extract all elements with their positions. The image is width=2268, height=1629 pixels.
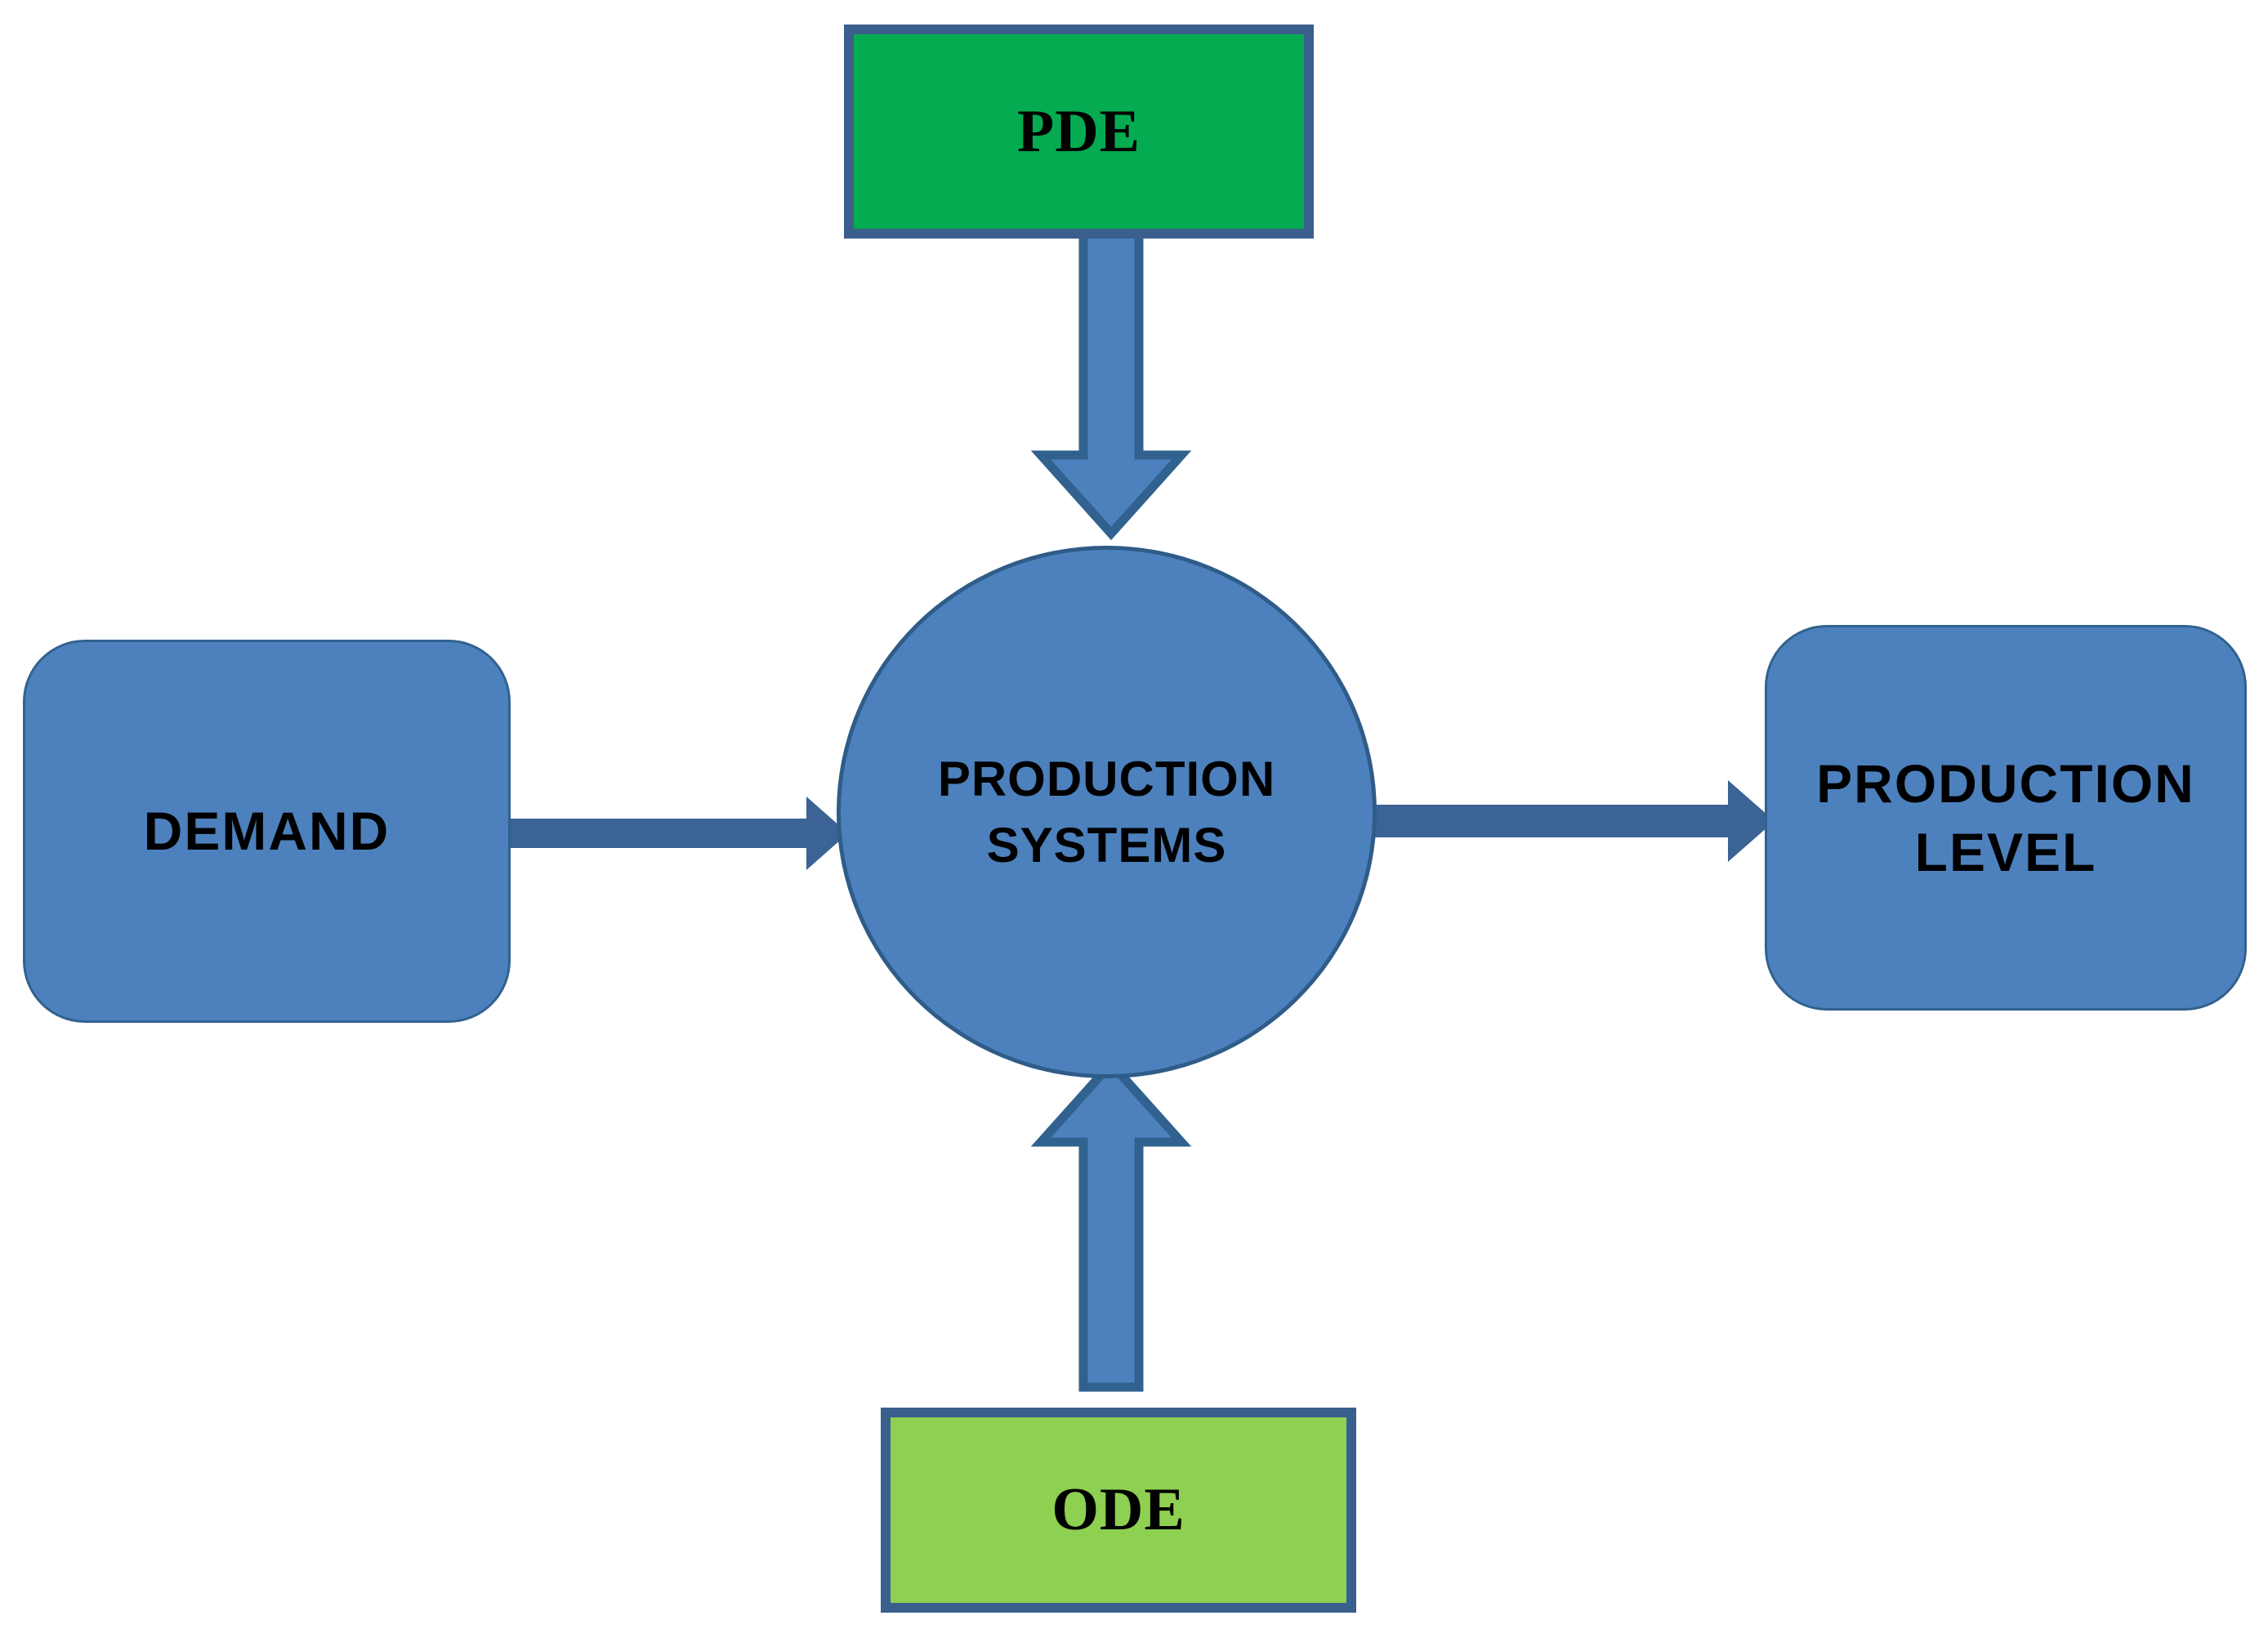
pde-label: PDE: [1017, 97, 1141, 167]
production-systems-label-line-2: SYSTEMS: [938, 812, 1275, 878]
production-level-box[interactable]: PRODUCTION LEVEL: [1765, 625, 2247, 1011]
demand-box[interactable]: DEMAND: [23, 640, 511, 1023]
production-level-label-line-2: LEVEL: [1816, 818, 2195, 886]
ode-box[interactable]: ODE: [881, 1408, 1356, 1613]
production-systems-label-line-1: PRODUCTION: [938, 746, 1275, 812]
arrow-pde-to-production-systems: [1038, 233, 1185, 539]
pde-box[interactable]: PDE: [844, 25, 1314, 239]
ode-label: ODE: [1051, 1475, 1185, 1545]
arrow-production-systems-to-production-level: [1366, 780, 1775, 862]
production-level-label: PRODUCTION LEVEL: [1816, 749, 2195, 887]
production-systems-label: PRODUCTION SYSTEMS: [938, 746, 1275, 878]
diagram-canvas: PDE DEMAND PRODUCTION SYSTEMS PRODUCTION…: [0, 0, 2268, 1629]
production-level-label-line-1: PRODUCTION: [1816, 749, 2195, 818]
arrow-ode-to-production-systems: [1038, 1060, 1185, 1387]
arrow-demand-to-production-systems: [505, 797, 848, 870]
demand-label: DEMAND: [144, 797, 391, 865]
production-systems-circle[interactable]: PRODUCTION SYSTEMS: [837, 546, 1377, 1078]
